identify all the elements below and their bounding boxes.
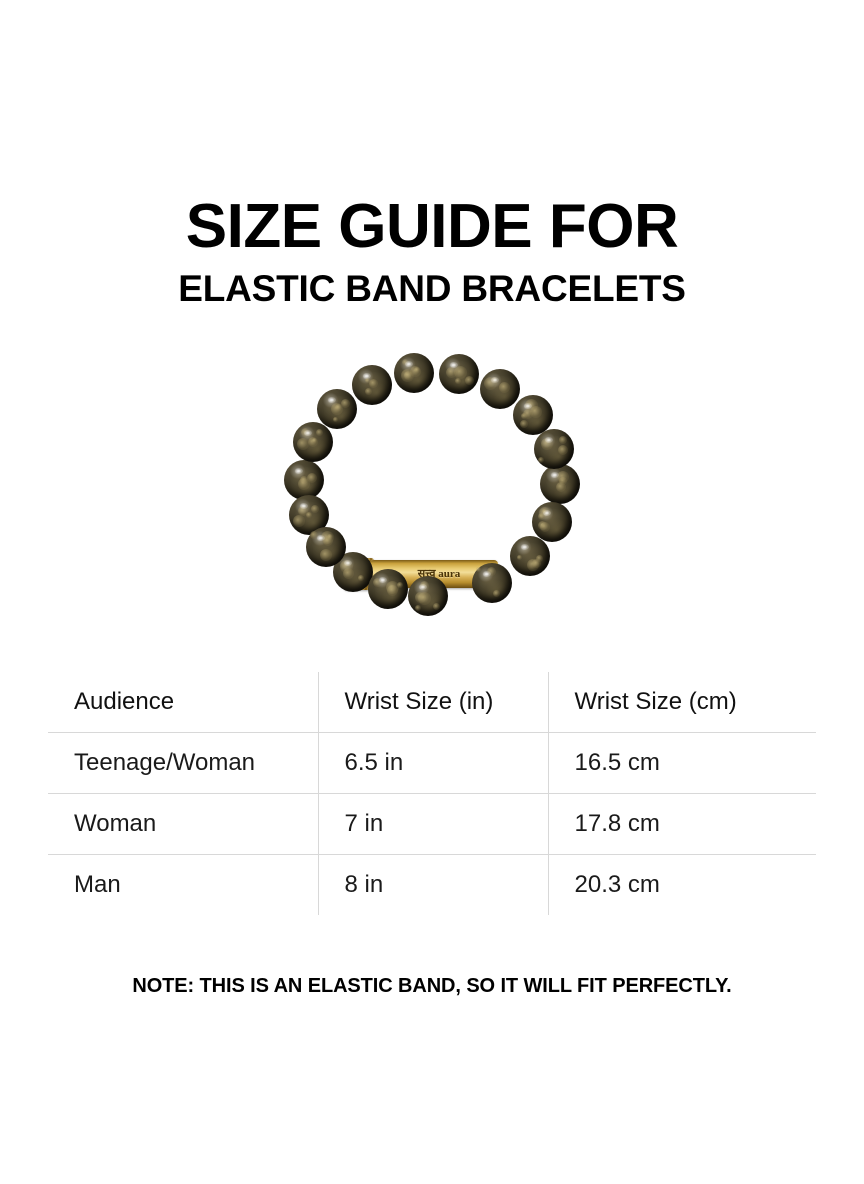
note-text: NOTE: THIS IS AN ELASTIC BAND, SO IT WIL… — [0, 975, 864, 998]
bracelet-bead — [480, 369, 520, 409]
bracelet-bead — [317, 389, 357, 429]
cell-wrist-in: 6.5 in — [318, 733, 548, 794]
bracelet-bead — [439, 354, 479, 394]
table-header-row: Audience Wrist Size (in) Wrist Size (cm) — [48, 672, 816, 733]
table-row: Woman 7 in 17.8 cm — [48, 794, 816, 855]
bracelet-bead — [352, 365, 392, 405]
cell-wrist-cm: 20.3 cm — [548, 855, 816, 916]
column-header-audience: Audience — [48, 672, 318, 733]
bracelet-bead — [284, 460, 324, 500]
cell-wrist-in: 7 in — [318, 794, 548, 855]
size-guide-table: Audience Wrist Size (in) Wrist Size (cm)… — [48, 672, 816, 915]
column-header-wrist-size-in: Wrist Size (in) — [318, 672, 548, 733]
column-header-wrist-size-cm: Wrist Size (cm) — [548, 672, 816, 733]
bracelet-bead — [472, 563, 512, 603]
bracelet-bead — [534, 429, 574, 469]
page-subtitle: ELASTIC BAND BRACELETS — [0, 270, 864, 307]
bracelet-bead — [306, 527, 346, 567]
title-block: SIZE GUIDE FOR ELASTIC BAND BRACELETS — [0, 196, 864, 307]
page-title: SIZE GUIDE FOR — [0, 196, 864, 258]
bracelet-bead — [408, 576, 448, 616]
bracelet-bead — [293, 422, 333, 462]
bracelet-bead — [532, 502, 572, 542]
table-row: Man 8 in 20.3 cm — [48, 855, 816, 916]
cell-audience: Teenage/Woman — [48, 733, 318, 794]
bracelet-illustration: सत्त्व aura — [262, 348, 602, 640]
bracelet-bead — [513, 395, 553, 435]
cell-wrist-cm: 17.8 cm — [548, 794, 816, 855]
cell-audience: Man — [48, 855, 318, 916]
cell-audience: Woman — [48, 794, 318, 855]
size-guide-page: SIZE GUIDE FOR ELASTIC BAND BRACELETS सत… — [0, 0, 864, 1184]
cell-wrist-cm: 16.5 cm — [548, 733, 816, 794]
bracelet-bead — [510, 536, 550, 576]
product-image-bracelet: सत्त्व aura — [262, 348, 602, 640]
cell-wrist-in: 8 in — [318, 855, 548, 916]
bracelet-bead — [540, 464, 580, 504]
bracelet-bead — [394, 353, 434, 393]
bracelet-bead — [368, 569, 408, 609]
table-row: Teenage/Woman 6.5 in 16.5 cm — [48, 733, 816, 794]
